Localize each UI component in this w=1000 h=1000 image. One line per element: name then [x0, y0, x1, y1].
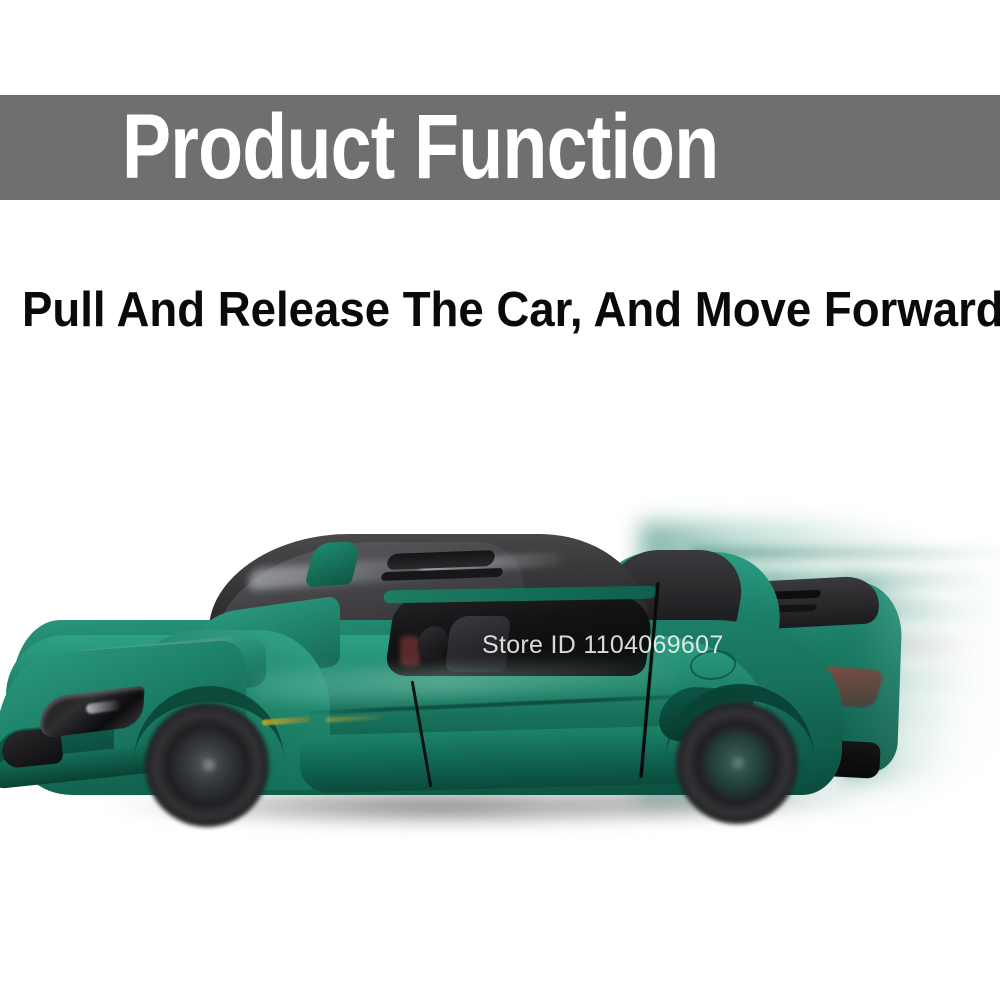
feature-subtitle: Pull And Release The Car, And Move Forwa…	[22, 284, 929, 336]
product-photo	[0, 430, 1000, 900]
store-id-watermark: Store ID 1104069607	[482, 630, 724, 660]
title-banner-bar: Product Function	[0, 95, 1000, 200]
product-banner-page: Product Function Pull And Release The Ca…	[0, 0, 1000, 1000]
page-title: Product Function	[122, 95, 718, 200]
